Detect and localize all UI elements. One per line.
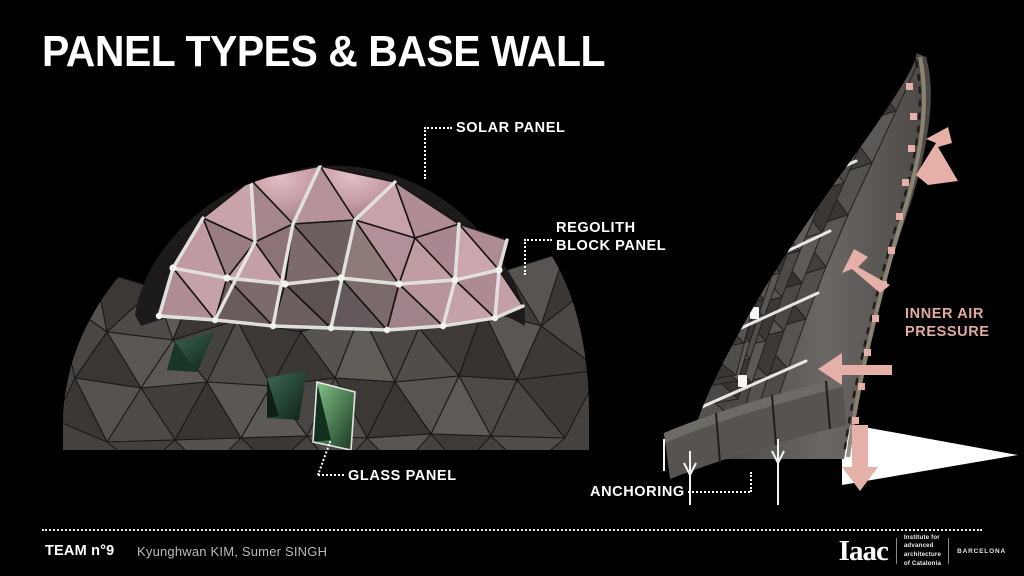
logo-divider-2 [948, 538, 949, 564]
callout-regolith-block-panel: REGOLITH BLOCK PANEL [556, 219, 666, 255]
iaac-logo-mark: Iaac [839, 537, 896, 566]
logo-divider-1 [896, 538, 897, 564]
iaac-logo-subtitle: Institute for advanced architecture of C… [904, 534, 948, 568]
callout-solar-panel: SOLAR PANEL [456, 119, 565, 137]
callout-anchoring: ANCHORING [590, 483, 685, 501]
leader-solar-panel-v [424, 127, 426, 179]
leader-solar-panel-h [424, 127, 452, 129]
leader-glass-h [318, 474, 344, 476]
team-label: TEAM n°9 [45, 543, 114, 559]
page-title: PANEL TYPES & BASE WALL [42, 30, 605, 74]
leader-anchoring-v [750, 472, 752, 492]
leader-regolith-v [524, 239, 526, 275]
solar-panel-group [135, 166, 525, 334]
leader-anchoring-h [688, 491, 750, 493]
leader-regolith-h [524, 239, 552, 241]
base-wall-section-render [620, 35, 1020, 505]
iaac-logo-city: BARCELONA [957, 548, 1006, 555]
iaac-logo: Iaac Institute for advanced architecture… [839, 536, 1006, 566]
callout-inner-air-pressure: INNER AIR PRESSURE [905, 305, 990, 341]
footer-divider [42, 529, 982, 531]
slide-canvas: PANEL TYPES & BASE WALL [0, 0, 1024, 576]
callout-glass-panel: GLASS PANEL [348, 467, 457, 485]
geodesic-dome-render [55, 120, 595, 480]
authors-label: Kyunghwan KIM, Sumer SINGH [137, 544, 327, 559]
